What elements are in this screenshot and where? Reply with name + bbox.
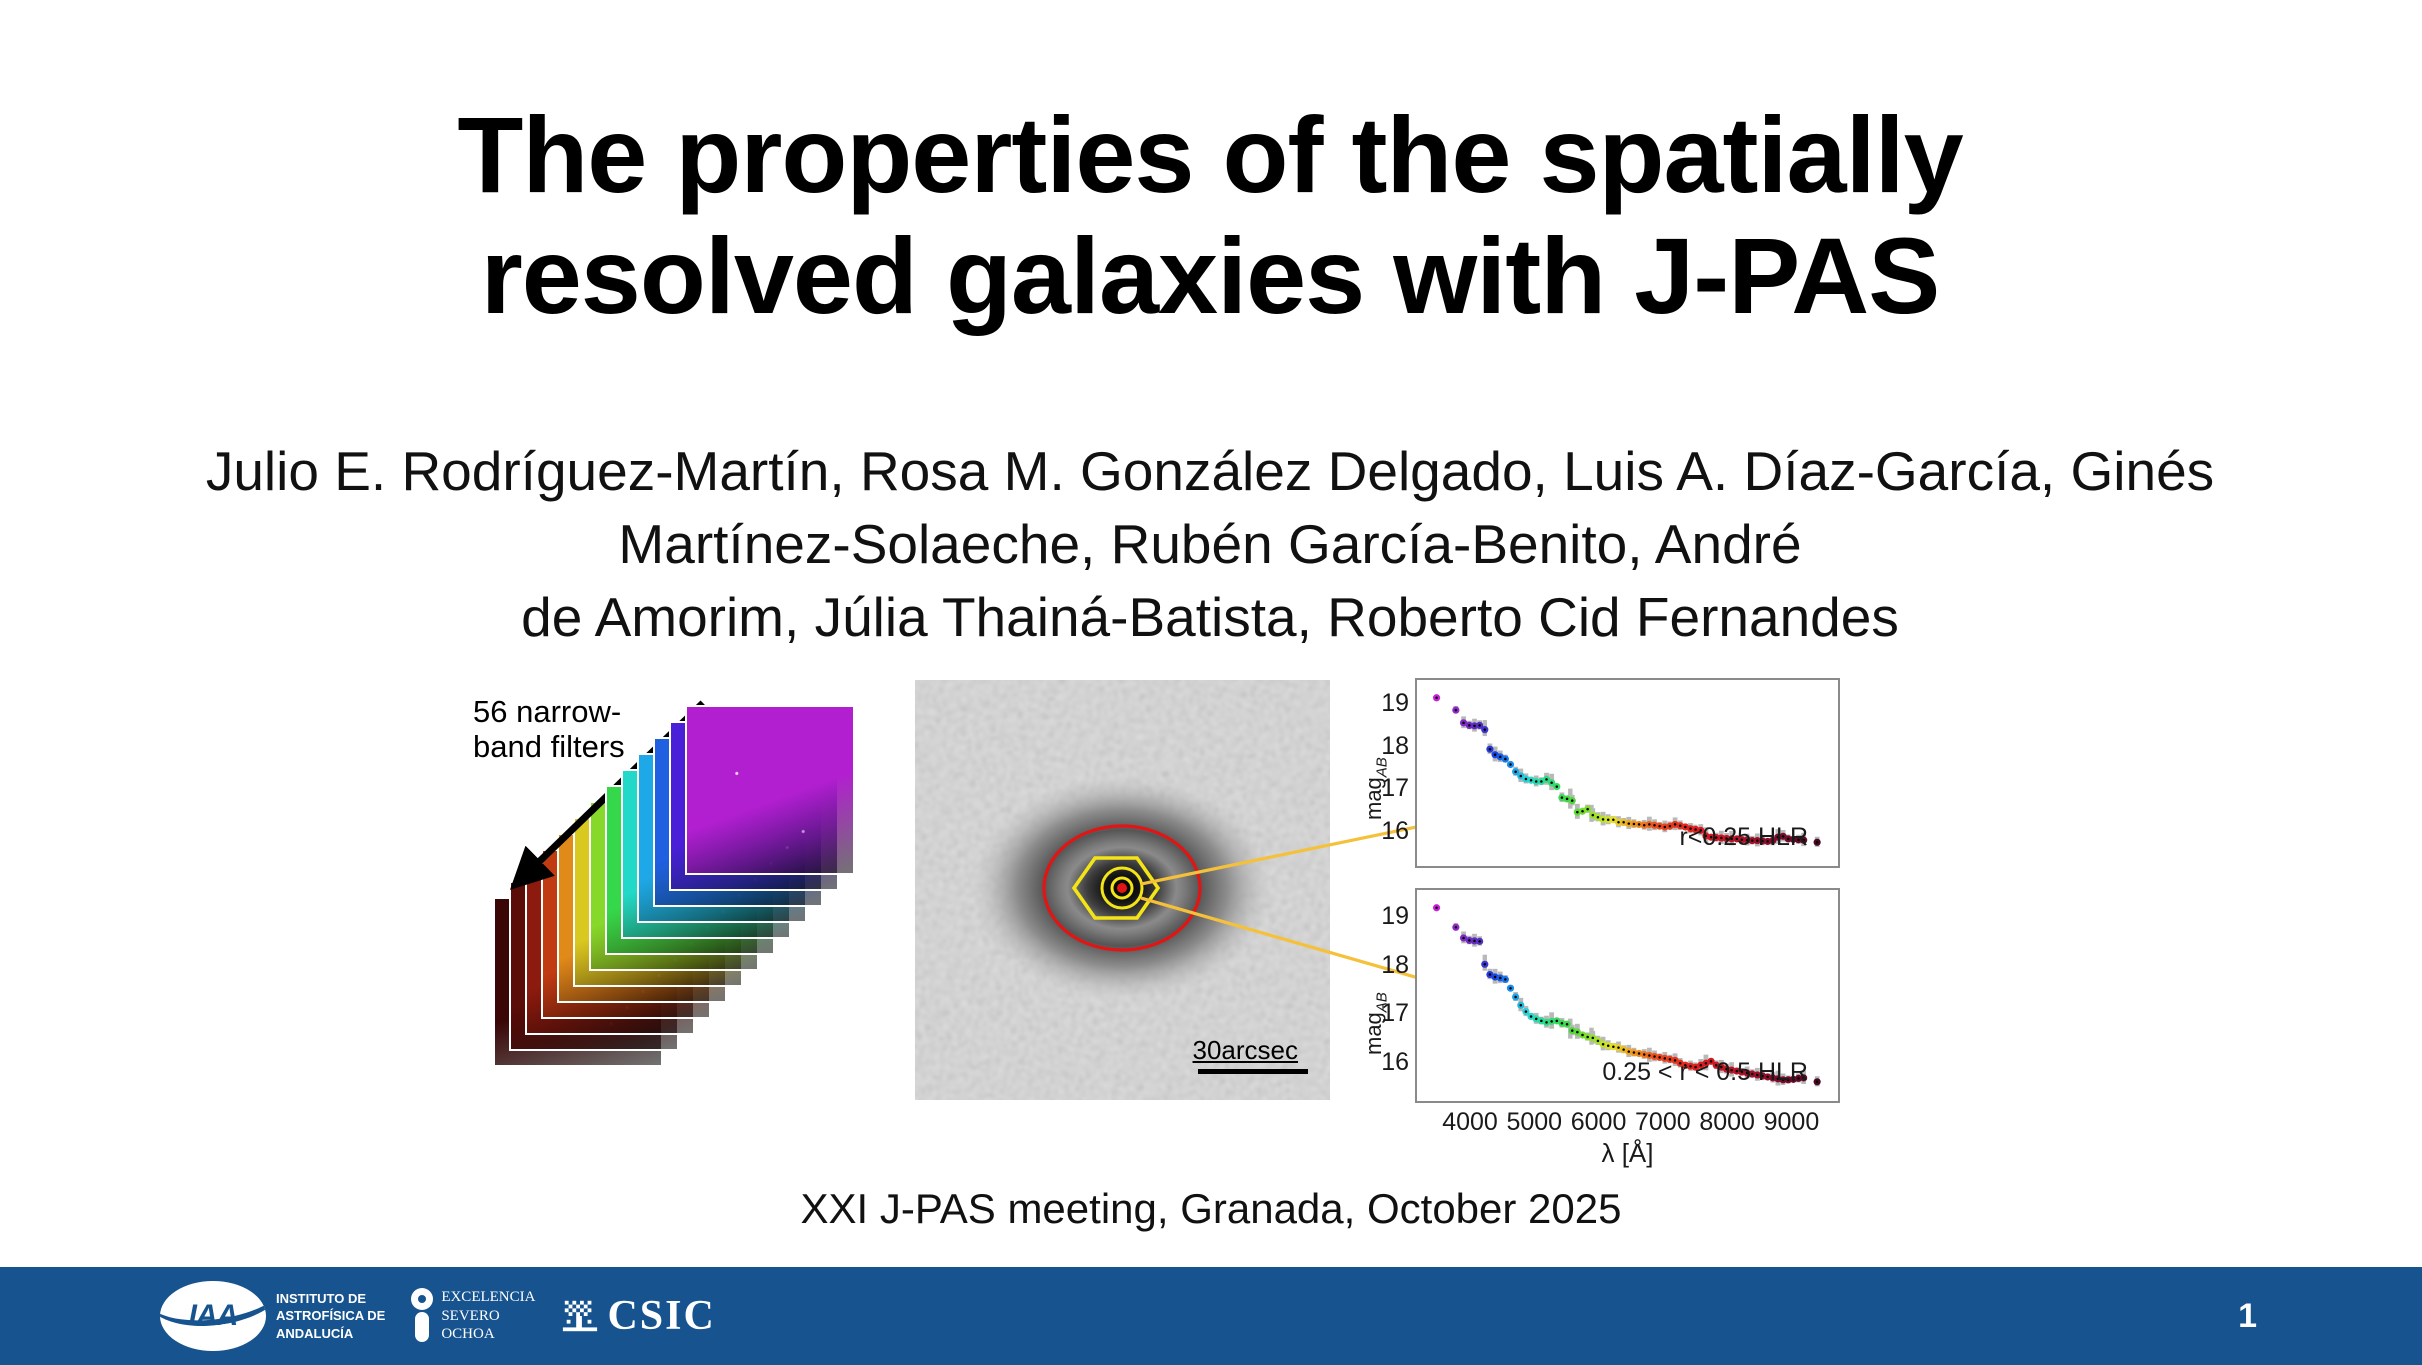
model-datapoint — [1658, 825, 1661, 828]
model-datapoint — [1504, 978, 1507, 981]
author-line-1: Julio E. Rodríguez-Martín, Rosa M. Gonzá… — [110, 435, 2310, 508]
model-datapoint — [1586, 1036, 1589, 1039]
csic-tree-icon — [561, 1297, 599, 1335]
y-tick-label: 19 — [1381, 902, 1409, 931]
model-datapoint — [1530, 1015, 1533, 1018]
spectra-panels: magAB 16171819 r<0.25 HLR magAB 16171819… — [1355, 670, 1855, 1160]
model-datapoint — [1509, 763, 1512, 766]
x-tick-label: 8000 — [1699, 1108, 1755, 1137]
model-datapoint — [1499, 756, 1502, 759]
spectrum-panel-bottom: 0.25 < r < 0.5 HLR — [1415, 888, 1840, 1103]
model-datapoint — [1643, 824, 1646, 827]
model-datapoint — [1633, 823, 1636, 826]
model-datapoint — [1550, 782, 1553, 785]
model-datapoint — [1489, 748, 1492, 751]
model-datapoint — [1455, 709, 1458, 712]
model-datapoint — [1669, 825, 1672, 828]
iaa-oval-icon: IAA — [160, 1281, 266, 1351]
model-datapoint — [1545, 778, 1548, 781]
model-datapoint — [1435, 907, 1438, 910]
model-datapoint — [1674, 823, 1677, 826]
y-tick-label: 17 — [1381, 774, 1409, 803]
model-datapoint — [1597, 1040, 1600, 1043]
model-datapoint — [1592, 1037, 1595, 1040]
narrowband-filter-cube: 56 narrow- band filters — [455, 670, 895, 1110]
model-datapoint — [1520, 1004, 1523, 1007]
csic-wordmark: CSIC — [607, 1292, 715, 1340]
model-datapoint — [1435, 697, 1438, 700]
model-datapoint — [1468, 939, 1471, 942]
model-datapoint — [1628, 1050, 1631, 1053]
model-datapoint — [1638, 1052, 1641, 1055]
title-line-2: resolved galaxies with J-PAS — [170, 216, 2250, 337]
model-datapoint — [1653, 824, 1656, 827]
model-datapoint — [1489, 973, 1492, 976]
model-datapoint — [1643, 1053, 1646, 1056]
model-datapoint — [1607, 819, 1610, 822]
model-datapoint — [1478, 940, 1481, 943]
model-datapoint — [1561, 1022, 1564, 1025]
model-datapoint — [1581, 1034, 1584, 1037]
y-tick-label: 18 — [1381, 732, 1409, 761]
figure-panel: 56 narrow- band filters — [455, 670, 1855, 1160]
filter-slice — [685, 705, 855, 875]
author-line-3: de Amorim, Júlia Thainá-Batista, Roberto… — [110, 581, 2310, 654]
model-datapoint — [1664, 826, 1667, 829]
model-datapoint — [1520, 775, 1523, 778]
iaa-acronym: IAA — [189, 1299, 238, 1333]
model-datapoint — [1499, 977, 1502, 980]
x-tick-label: 5000 — [1506, 1108, 1562, 1137]
panel-note-top: r<0.25 HLR — [1679, 823, 1808, 852]
x-tick-label: 9000 — [1764, 1108, 1820, 1137]
slide-canvas: The properties of the spatially resolved… — [0, 0, 2422, 1365]
model-datapoint — [1530, 779, 1533, 782]
model-datapoint — [1633, 1051, 1636, 1054]
title-line-1: The properties of the spatially — [170, 95, 2250, 216]
model-datapoint — [1622, 821, 1625, 824]
model-datapoint — [1612, 819, 1615, 822]
model-datapoint — [1617, 1046, 1620, 1049]
model-datapoint — [1576, 1031, 1579, 1034]
severo-ochoa-text: EXCELENCIA SEVERO OCHOA — [441, 1288, 535, 1344]
model-datapoint — [1648, 1054, 1651, 1057]
model-datapoint — [1581, 810, 1584, 813]
model-datapoint — [1525, 1010, 1528, 1013]
galaxy-cutout-image: 30arcsec — [915, 680, 1330, 1100]
footer-logo-group: IAA INSTITUTO DE ASTROFÍSICA DE ANDALUCÍ… — [160, 1267, 716, 1365]
author-line-2: Martínez-Solaeche, Rubén García-Benito, … — [110, 508, 2310, 581]
model-datapoint — [1540, 1020, 1543, 1023]
model-datapoint — [1628, 822, 1631, 825]
model-datapoint — [1514, 996, 1517, 999]
scale-bar-label: 30arcsec — [1193, 1035, 1299, 1066]
y-tick-label: 16 — [1381, 1048, 1409, 1077]
model-datapoint — [1816, 1081, 1819, 1084]
model-datapoint — [1592, 814, 1595, 817]
x-ticks: 400050006000700080009000 — [1415, 1108, 1840, 1142]
y-tick-label: 19 — [1381, 689, 1409, 718]
model-datapoint — [1494, 753, 1497, 756]
model-datapoint — [1525, 778, 1528, 781]
model-datapoint — [1566, 798, 1569, 801]
y-tick-label: 16 — [1381, 817, 1409, 846]
panel-note-bottom: 0.25 < r < 0.5 HLR — [1602, 1058, 1808, 1087]
y-ticks-top: 16171819 — [1363, 678, 1409, 868]
x-tick-label: 6000 — [1571, 1108, 1627, 1137]
model-datapoint — [1617, 821, 1620, 824]
page-number: 1 — [2238, 1267, 2257, 1365]
csic-logo: CSIC — [561, 1292, 715, 1340]
iaa-logo: IAA INSTITUTO DE ASTROFÍSICA DE ANDALUCÍ… — [160, 1281, 385, 1351]
x-tick-label: 4000 — [1442, 1108, 1498, 1137]
center-point-marker — [1117, 883, 1127, 893]
y-tick-label: 17 — [1381, 999, 1409, 1028]
model-datapoint — [1462, 937, 1465, 940]
model-datapoint — [1468, 724, 1471, 727]
model-datapoint — [1545, 1021, 1548, 1024]
spectrum-panel-top: r<0.25 HLR — [1415, 678, 1840, 868]
model-datapoint — [1473, 725, 1476, 728]
model-datapoint — [1504, 758, 1507, 761]
model-datapoint — [1816, 841, 1819, 844]
model-datapoint — [1597, 816, 1600, 819]
x-axis-label: λ [Å] — [1415, 1138, 1840, 1169]
model-datapoint — [1556, 785, 1559, 788]
author-list: Julio E. Rodríguez-Martín, Rosa M. Gonzá… — [110, 435, 2310, 654]
model-datapoint — [1648, 823, 1651, 826]
model-datapoint — [1535, 780, 1538, 783]
model-datapoint — [1535, 1018, 1538, 1021]
model-datapoint — [1514, 770, 1517, 773]
y-tick-label: 18 — [1381, 951, 1409, 980]
meeting-caption: XXI J-PAS meeting, Granada, October 2025 — [0, 1185, 2422, 1233]
model-datapoint — [1638, 823, 1641, 826]
model-datapoint — [1462, 722, 1465, 725]
severo-ochoa-logo: EXCELENCIA SEVERO OCHOA — [411, 1288, 535, 1344]
model-datapoint — [1612, 1045, 1615, 1048]
model-datapoint — [1607, 1044, 1610, 1047]
model-datapoint — [1576, 811, 1579, 814]
y-ticks-bottom: 16171819 — [1363, 888, 1409, 1103]
severo-ochoa-mark-icon — [411, 1288, 433, 1344]
model-datapoint — [1478, 724, 1481, 727]
model-datapoint — [1550, 1020, 1553, 1023]
scale-bar — [1198, 1069, 1308, 1074]
model-datapoint — [1540, 780, 1543, 783]
footer-bar: IAA INSTITUTO DE ASTROFÍSICA DE ANDALUCÍ… — [0, 1267, 2422, 1365]
model-datapoint — [1484, 963, 1487, 966]
model-datapoint — [1566, 1023, 1569, 1025]
model-datapoint — [1561, 796, 1564, 799]
model-datapoint — [1602, 1043, 1605, 1046]
iaa-institute-name: INSTITUTO DE ASTROFÍSICA DE ANDALUCÍA — [276, 1290, 385, 1342]
model-datapoint — [1473, 940, 1476, 943]
model-datapoint — [1602, 818, 1605, 821]
model-datapoint — [1622, 1048, 1625, 1051]
model-datapoint — [1455, 926, 1458, 929]
model-datapoint — [1571, 1029, 1574, 1032]
model-datapoint — [1494, 976, 1497, 979]
model-datapoint — [1571, 799, 1574, 802]
model-datapoint — [1509, 987, 1512, 990]
model-datapoint — [1556, 1020, 1559, 1023]
x-tick-label: 7000 — [1635, 1108, 1691, 1137]
model-datapoint — [1586, 808, 1589, 811]
page-title: The properties of the spatially resolved… — [170, 95, 2250, 337]
model-datapoint — [1484, 728, 1487, 731]
